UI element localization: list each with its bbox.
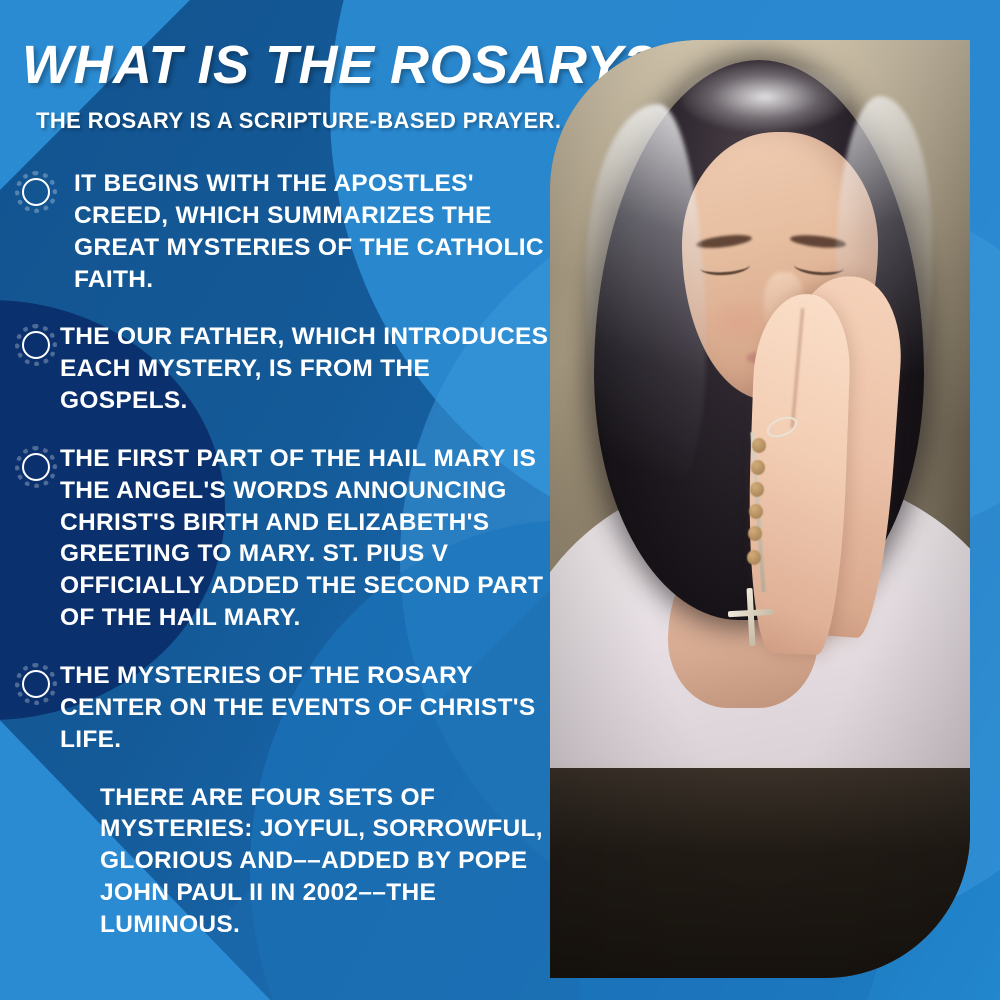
list-item: THE MYSTERIES OF THE ROSARY CENTER ON TH… — [0, 660, 565, 756]
ring-bullet-icon — [14, 445, 60, 491]
list-item: THE FIRST PART OF THE HAIL MARY IS THE A… — [0, 443, 565, 634]
bullet-list: IT BEGINS WITH THE APOSTLES' CREED, WHIC… — [0, 168, 565, 941]
photo-vignette — [550, 40, 970, 978]
ring-bullet-circle — [22, 178, 50, 206]
page-subtitle: THE ROSARY IS A SCRIPTURE-BASED PRAYER. — [36, 108, 561, 134]
ring-bullet-circle — [22, 670, 50, 698]
ring-bullet-icon — [14, 662, 60, 708]
ring-bullet-icon — [14, 170, 60, 216]
list-item-text: IT BEGINS WITH THE APOSTLES' CREED, WHIC… — [60, 168, 565, 295]
list-item: THE OUR FATHER, WHICH INTRODUCES EACH MY… — [0, 321, 565, 417]
rosary-infographic-poster: WHAT IS THE ROSARY? THE ROSARY IS A SCRI… — [0, 0, 1000, 1000]
ring-bullet-circle — [22, 453, 50, 481]
list-item-text: THE OUR FATHER, WHICH INTRODUCES EACH MY… — [60, 321, 565, 417]
ring-bullet-icon — [14, 323, 60, 369]
praying-woman-photo — [550, 40, 970, 978]
list-item-text: THE FIRST PART OF THE HAIL MARY IS THE A… — [60, 443, 565, 634]
content-column: WHAT IS THE ROSARY? THE ROSARY IS A SCRI… — [0, 0, 565, 1000]
list-item: IT BEGINS WITH THE APOSTLES' CREED, WHIC… — [0, 168, 565, 295]
list-item-subnote: THERE ARE FOUR SETS OF MYSTERIES: JOYFUL… — [100, 782, 553, 941]
list-item-text: THE MYSTERIES OF THE ROSARY CENTER ON TH… — [60, 660, 565, 756]
photo-inner — [550, 40, 970, 978]
